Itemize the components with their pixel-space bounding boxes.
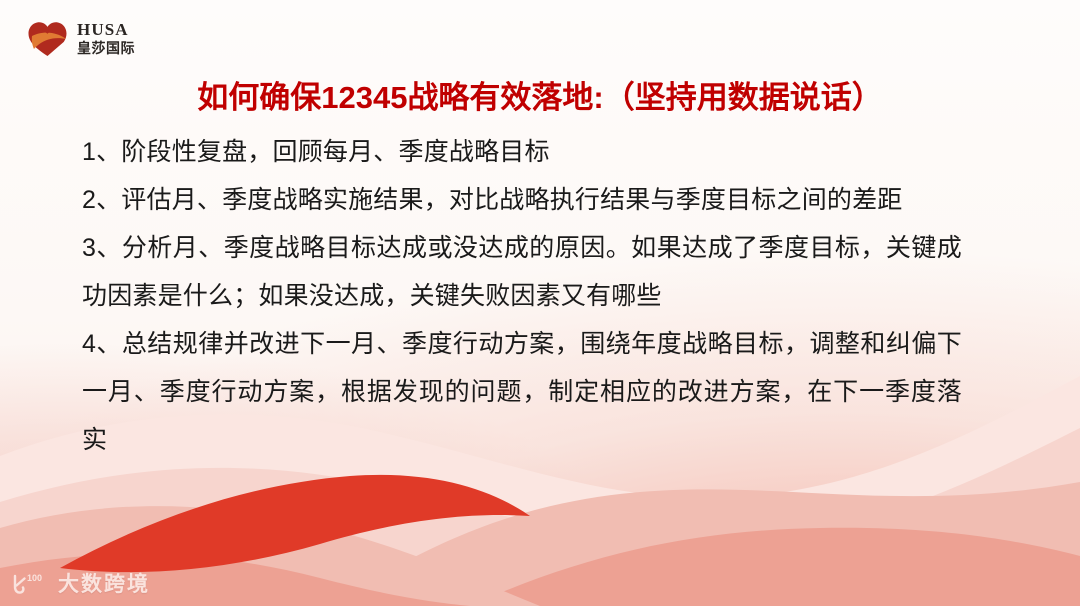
watermark-text: 大数跨境 <box>58 568 150 598</box>
husa-logo: HUSA 皇莎国际 <box>26 14 135 62</box>
page-title: 如何确保12345战略有效落地:（坚持用数据说话） <box>0 72 1080 117</box>
heart-wing-icon <box>26 18 70 58</box>
watermark: 100 大数跨境 <box>10 568 150 598</box>
content-list: 1、阶段性复盘，回顾每月、季度战略目标 2、评估月、季度战略实施结果，对比战略执… <box>82 128 962 464</box>
k100-icon: 100 <box>10 570 50 596</box>
svg-text:100: 100 <box>27 573 42 583</box>
logo-chinese-text: 皇莎国际 <box>77 41 135 55</box>
list-item: 1、阶段性复盘，回顾每月、季度战略目标 <box>82 128 962 176</box>
list-item: 3、分析月、季度战略目标达成或没达成的原因。如果达成了季度目标，关键成功因素是什… <box>82 224 962 320</box>
wave-layer-5 <box>0 506 540 606</box>
wave-layer-3 <box>330 482 1080 606</box>
logo-english-text: HUSA <box>77 21 135 38</box>
list-item: 2、评估月、季度战略实施结果，对比战略执行结果与季度目标之间的差距 <box>82 176 962 224</box>
slide-root: HUSA 皇莎国际 如何确保12345战略有效落地:（坚持用数据说话） 1、阶段… <box>0 0 1080 606</box>
list-item: 4、总结规律并改进下一月、季度行动方案，围绕年度战略目标，调整和纠偏下一月、季度… <box>82 320 962 464</box>
wave-layer-4 <box>470 528 1080 606</box>
red-crest-wave <box>60 475 530 572</box>
wave-layer-6 <box>0 554 470 606</box>
